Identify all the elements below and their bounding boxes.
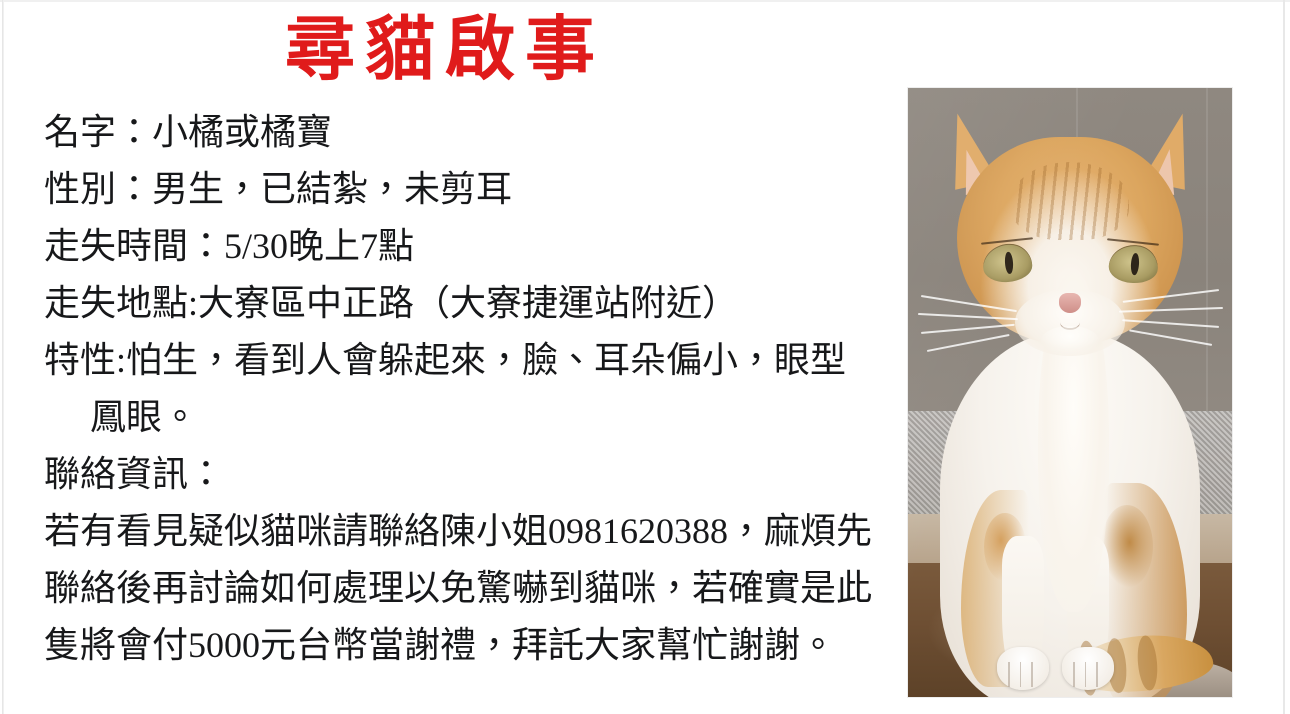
cat-pupil-left	[1004, 251, 1013, 274]
cat-whisker-right	[1129, 329, 1212, 346]
cat-paw-left	[997, 647, 1049, 690]
line-name: 名字：小橘或橘寶	[44, 104, 894, 161]
poster-title: 尋貓啟事	[0, 6, 890, 92]
cat-tail-band	[1136, 635, 1159, 691]
line-contact-two: 聯絡後再討論如何處理以免驚嚇到貓咪，若確實是此	[44, 560, 894, 617]
line-contact-heading: 聯絡資訊：	[44, 446, 894, 503]
page-top-edge	[0, 0, 1290, 2]
cat-patch-right	[1101, 505, 1153, 588]
cat-head-stripes	[1011, 162, 1129, 241]
cat-whisker-left	[927, 334, 1010, 352]
cat-paw-right	[1062, 647, 1114, 690]
line-gender: 性別：男生，已結紮，未剪耳	[44, 161, 894, 218]
line-lost-time: 走失時間：5/30晚上7點	[44, 218, 894, 275]
line-traits-first: 特性:怕生，看到人會躲起來，臉、耳朵偏小，眼型	[44, 332, 894, 389]
cat-photo	[908, 88, 1232, 697]
page-right-edge	[1283, 0, 1285, 714]
cat-toe-line	[1020, 662, 1022, 688]
cat-toe-line	[1008, 662, 1010, 688]
cat-illustration	[908, 88, 1232, 697]
cat-toe-line	[1073, 662, 1075, 688]
cat-toe-line	[1031, 662, 1033, 688]
cat-toe-line	[1085, 662, 1087, 688]
cat-pupil-right	[1130, 253, 1139, 276]
poster-body: 名字：小橘或橘寶 性別：男生，已結紮，未剪耳 走失時間：5/30晚上7點 走失地…	[44, 104, 894, 674]
page-left-edge	[2, 0, 4, 714]
cat-whisker-left	[921, 323, 1015, 333]
cat-toe-line	[1096, 662, 1098, 688]
cat-chin	[1041, 326, 1099, 356]
line-contact-one: 若有看見疑似貓咪請聯絡陳小姐0981620388，麻煩先	[44, 503, 894, 560]
line-lost-place: 走失地點:大寮區中正路（大寮捷運站附近）	[44, 275, 894, 332]
cat-photo-frame	[908, 88, 1232, 697]
line-traits-second: 鳳眼。	[44, 389, 894, 446]
line-contact-three: 隻將會付5000元台幣當謝禮，拜託大家幫忙謝謝。	[44, 617, 894, 674]
lost-cat-poster: 尋貓啟事 名字：小橘或橘寶 性別：男生，已結紮，未剪耳 走失時間：5/30晚上7…	[0, 0, 1290, 714]
